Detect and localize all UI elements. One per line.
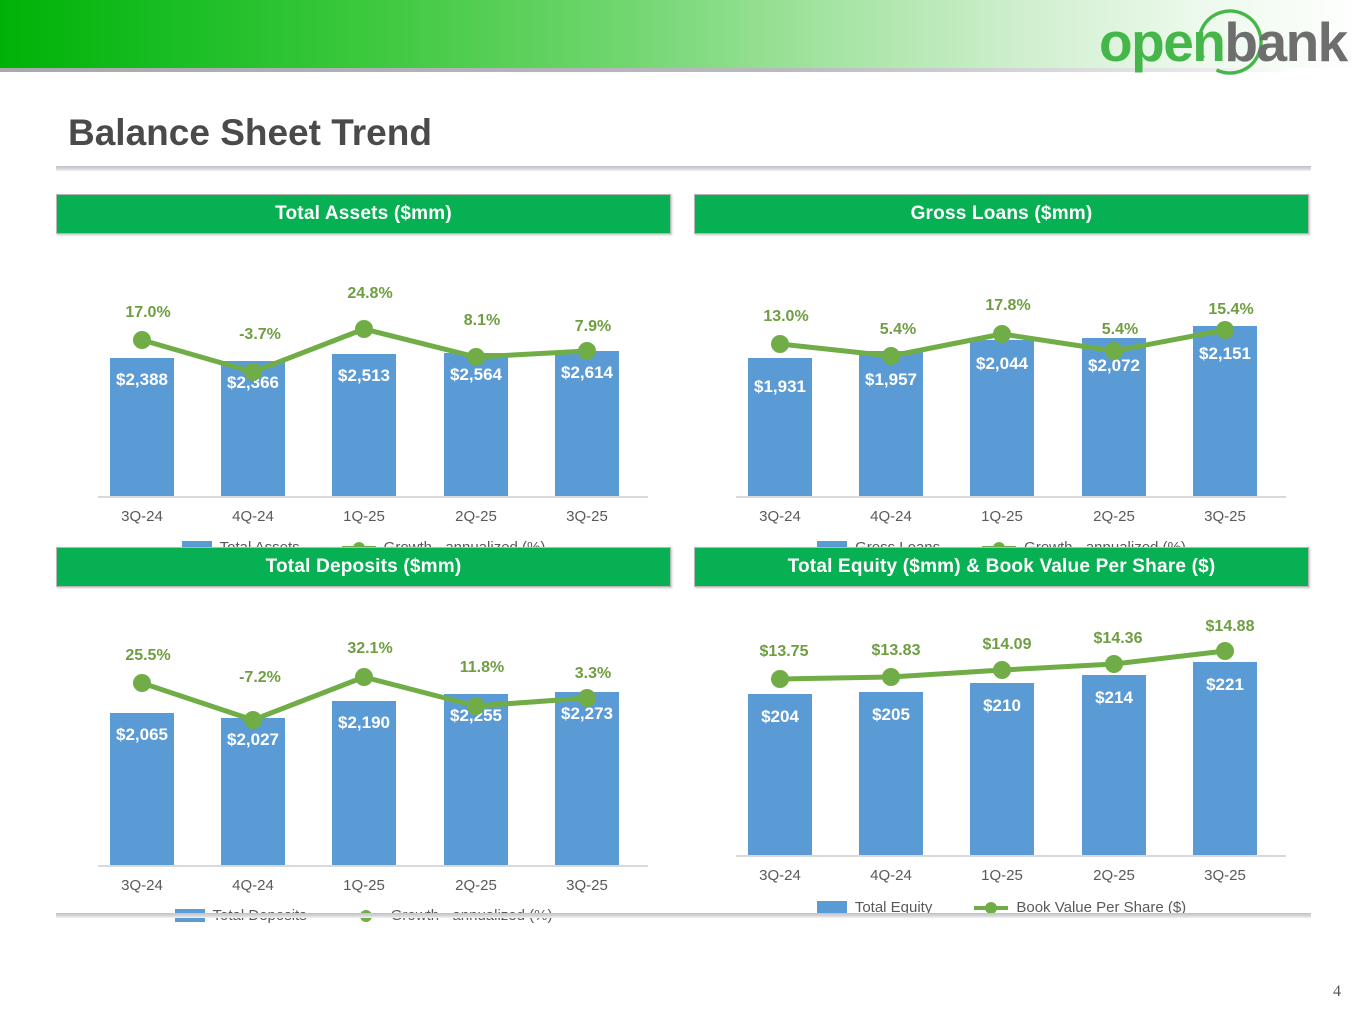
chart-plot-total-equity: $13.75 $13.83 $14.09 $14.36 $14.88 $204 …	[694, 587, 1309, 887]
x-tick-label: 3Q-25	[545, 508, 629, 525]
chart-plot-total-assets: 17.0% -3.7% 24.8% 8.1% 7.9% $2,388 $2,36…	[56, 234, 671, 524]
x-tick-label: 2Q-25	[1072, 867, 1156, 884]
x-tick-label: 3Q-24	[738, 508, 822, 525]
growth-line-series	[56, 234, 671, 524]
x-tick-label: 1Q-25	[960, 867, 1044, 884]
logo-word-bank: bank	[1224, 11, 1346, 73]
chart-banner-gross-loans: Gross Loans ($mm)	[694, 194, 1309, 234]
chart-panel-total-equity: Total Equity ($mm) & Book Value Per Shar…	[694, 547, 1309, 887]
logo-wordmark: openbank	[1099, 6, 1357, 78]
x-tick-label: 4Q-24	[849, 867, 933, 884]
chart-banner-total-equity: Total Equity ($mm) & Book Value Per Shar…	[694, 547, 1309, 587]
growth-line-series	[694, 234, 1309, 524]
x-tick-label: 3Q-24	[100, 877, 184, 894]
openbank-logo: openbank	[1099, 6, 1357, 78]
x-tick-label: 3Q-24	[100, 508, 184, 525]
x-tick-label: 3Q-25	[545, 877, 629, 894]
x-tick-label: 2Q-25	[434, 508, 518, 525]
book-value-line-series	[694, 587, 1309, 887]
bottom-divider	[56, 913, 1311, 918]
chart-plot-total-deposits: 25.5% -7.2% 32.1% 11.8% 3.3% $2,065 $2,0…	[56, 587, 671, 887]
x-tick-label: 1Q-25	[322, 508, 406, 525]
chart-panel-gross-loans: Gross Loans ($mm) 13.0% 5.4% 17.8% 5.4% …	[694, 194, 1309, 524]
x-tick-label: 4Q-24	[211, 508, 295, 525]
chart-banner-total-deposits: Total Deposits ($mm)	[56, 547, 671, 587]
x-tick-label: 4Q-24	[211, 877, 295, 894]
x-tick-label: 1Q-25	[322, 877, 406, 894]
chart-panel-total-deposits: Total Deposits ($mm) 25.5% -7.2% 32.1% 1…	[56, 547, 671, 887]
chart-plot-gross-loans: 13.0% 5.4% 17.8% 5.4% 15.4% $1,931 $1,95…	[694, 234, 1309, 524]
x-tick-label: 3Q-25	[1183, 508, 1267, 525]
x-tick-label: 3Q-24	[738, 867, 822, 884]
growth-line-series	[56, 587, 671, 887]
x-tick-label: 1Q-25	[960, 508, 1044, 525]
page-title: Balance Sheet Trend	[68, 112, 432, 154]
x-tick-label: 2Q-25	[434, 877, 518, 894]
x-tick-label: 2Q-25	[1072, 508, 1156, 525]
title-divider	[56, 166, 1311, 171]
chart-panel-total-assets: Total Assets ($mm) 17.0% -3.7% 24.8% 8.1…	[56, 194, 671, 524]
logo-word-open: open	[1099, 11, 1224, 73]
x-tick-label: 4Q-24	[849, 508, 933, 525]
page-number: 4	[1333, 983, 1341, 1001]
x-tick-label: 3Q-25	[1183, 867, 1267, 884]
chart-banner-total-assets: Total Assets ($mm)	[56, 194, 671, 234]
